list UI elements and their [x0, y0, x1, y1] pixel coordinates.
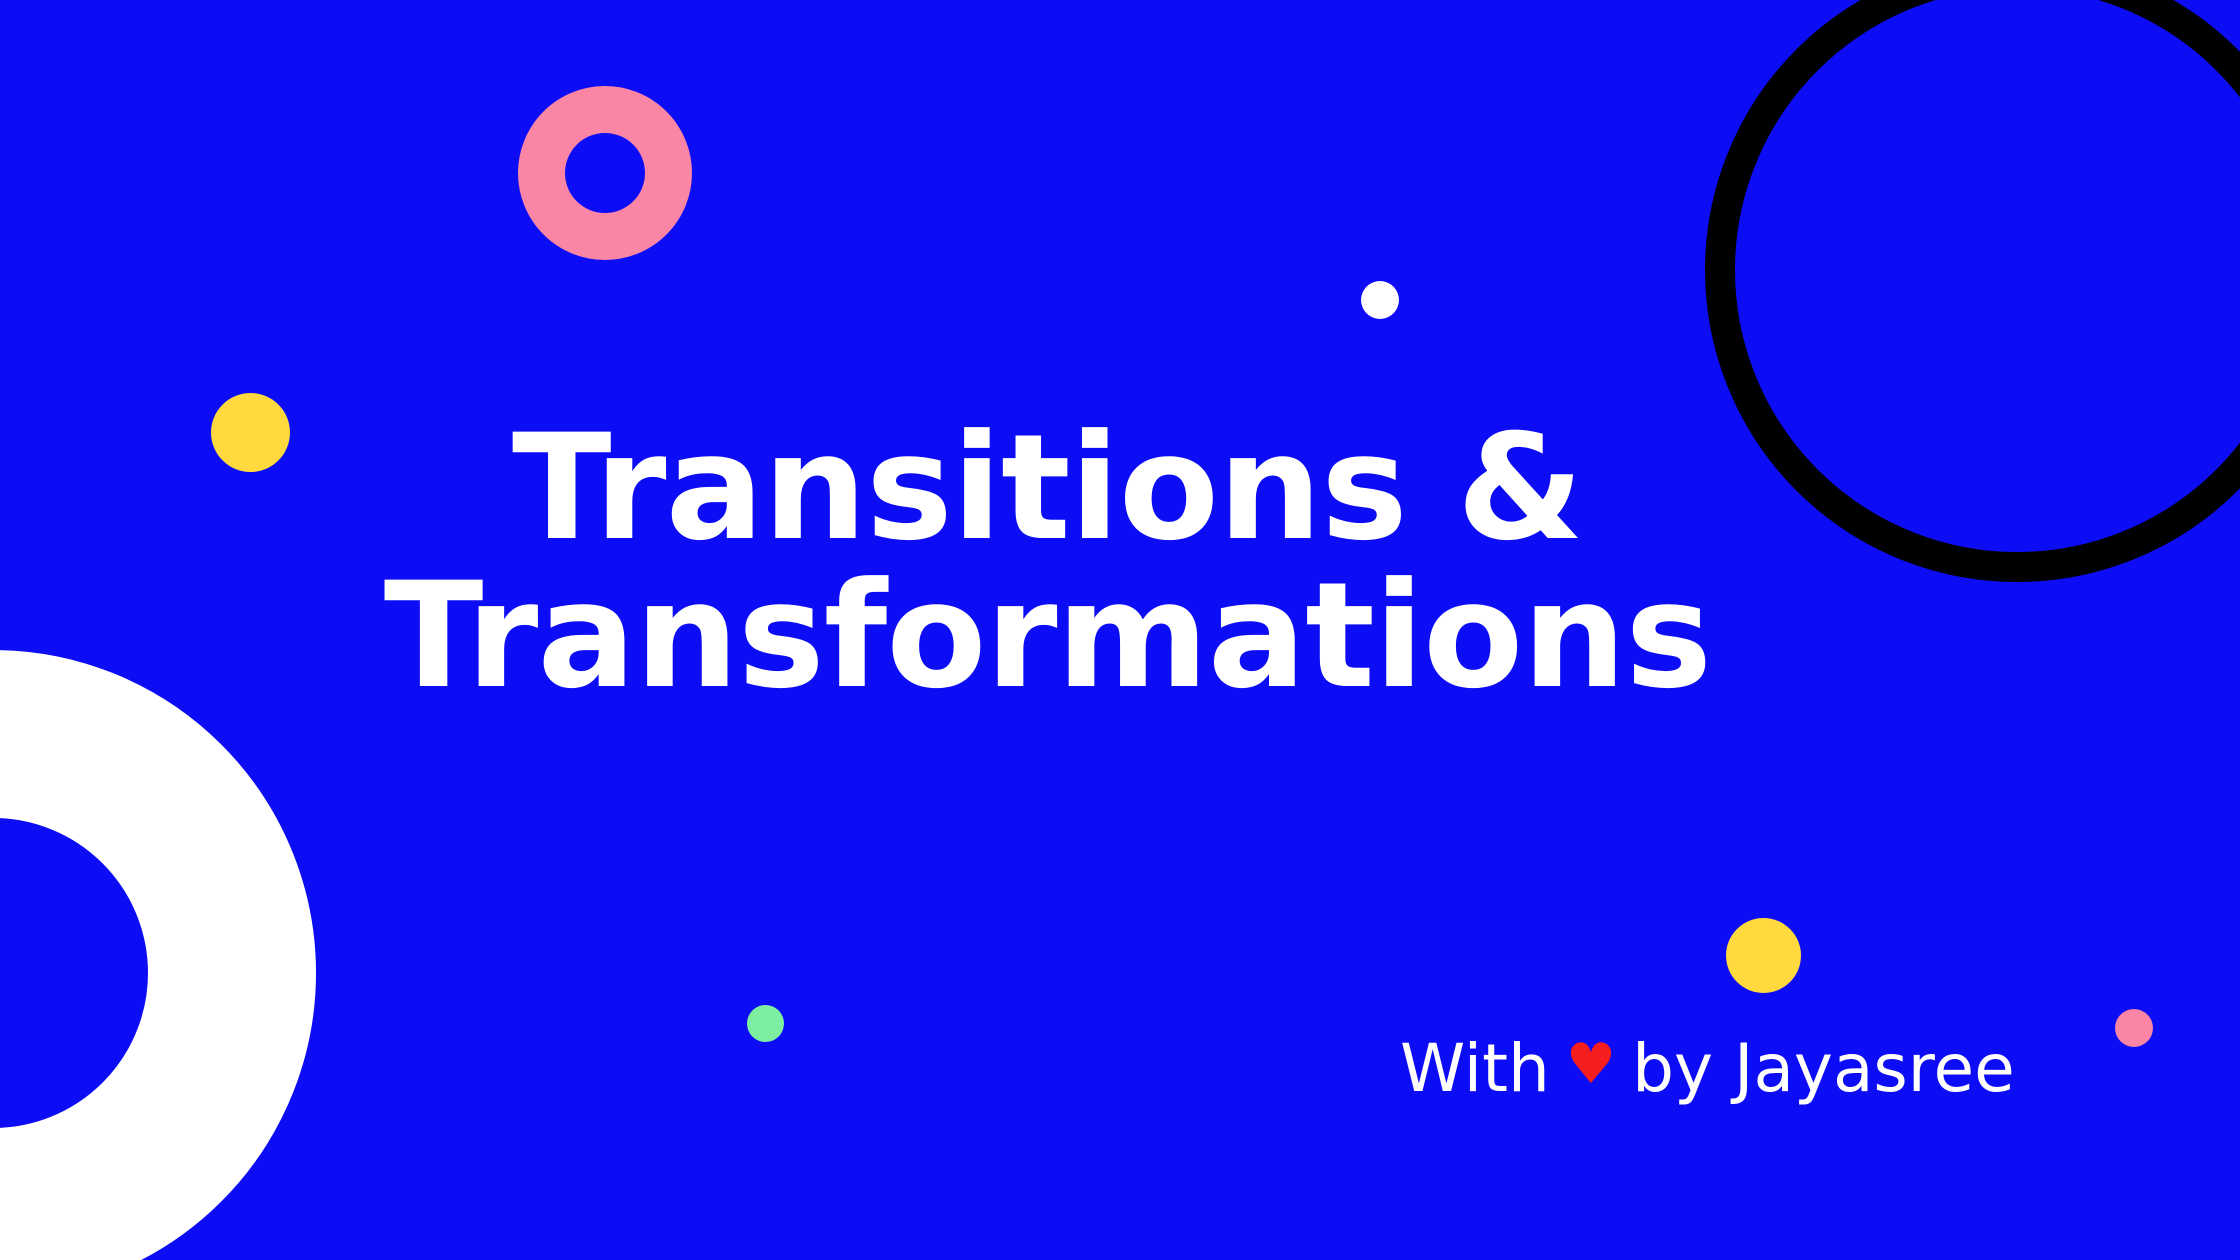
credit-prefix: With [1400, 1032, 1550, 1106]
slide-title-line-1: Transitions & [0, 414, 2095, 562]
slide-title-line-2: Transformations [0, 562, 2095, 710]
yellow-dot-right-decoration [1726, 918, 1801, 993]
title-slide: Transitions & Transformations With ♥ by … [0, 0, 2240, 1260]
slide-title: Transitions & Transformations [0, 414, 2095, 710]
green-dot-decoration [747, 1005, 784, 1042]
author-credit: With ♥ by Jayasree [1400, 1032, 2015, 1106]
pink-ring-decoration [518, 86, 692, 260]
white-dot-decoration [1361, 281, 1399, 319]
credit-author: by Jayasree [1632, 1032, 2015, 1106]
pink-dot-decoration [2115, 1009, 2153, 1047]
white-ring-decoration [0, 650, 316, 1260]
heart-icon: ♥ [1550, 1028, 1632, 1102]
